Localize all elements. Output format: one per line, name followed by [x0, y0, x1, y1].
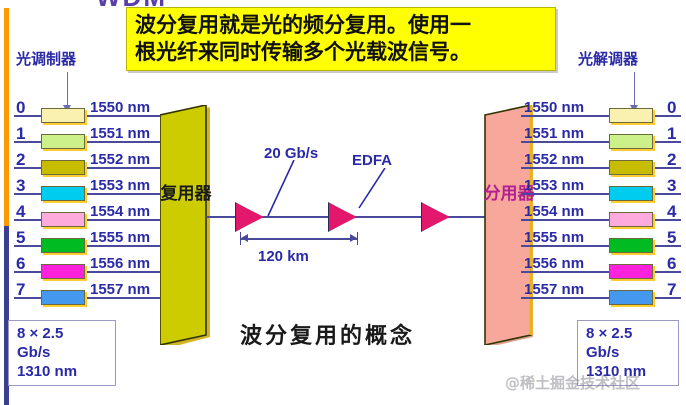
- slide-canvas: WDM 波分复用就是光的频分复用。使用一 根光纤来同时传输多个光载波信号。 光调…: [0, 0, 686, 405]
- channel-row-6: 61556 nm: [0, 254, 165, 278]
- channel-row-5: 51555 nm: [0, 228, 165, 252]
- channel-row-0: 01550 nm: [0, 98, 165, 122]
- optical-demodulator-2[interactable]: [609, 160, 653, 175]
- optical-demodulator-6[interactable]: [609, 264, 653, 279]
- channel-number: 3: [667, 176, 676, 196]
- optical-modulator-5[interactable]: [41, 238, 85, 253]
- channel-wavelength: 1551 nm: [524, 125, 584, 142]
- channel-row-0: 01550 nm: [521, 98, 686, 122]
- channel-wavelength: 1554 nm: [524, 203, 584, 220]
- channel-wavelength: 1557 nm: [524, 281, 584, 298]
- channel-wavelength: 1556 nm: [524, 255, 584, 272]
- channel-number: 7: [16, 280, 25, 300]
- channel-row-7: 71557 nm: [521, 280, 686, 304]
- optical-modulator-3[interactable]: [41, 186, 85, 201]
- channel-number: 5: [667, 228, 676, 248]
- annotation-edfa: EDFA: [352, 152, 392, 169]
- info-left-line-2: Gb/s: [17, 343, 109, 362]
- channel-wavelength: 1555 nm: [90, 229, 150, 246]
- channel-row-2: 21552 nm: [521, 150, 686, 174]
- channel-wavelength: 1550 nm: [90, 99, 150, 116]
- callout-box: 波分复用就是光的频分复用。使用一 根光纤来同时传输多个光载波信号。: [126, 7, 556, 71]
- channel-number: 2: [667, 150, 676, 170]
- channel-wavelength: 1556 nm: [90, 255, 150, 272]
- multiplexer-device: 复用器: [160, 105, 212, 345]
- callout-line-1: 波分复用就是光的频分复用。使用一: [135, 11, 547, 38]
- channel-number: 2: [16, 150, 25, 170]
- channel-number: 4: [667, 202, 676, 222]
- optical-demodulator-7[interactable]: [609, 290, 653, 305]
- channel-row-2: 21552 nm: [0, 150, 165, 174]
- channel-wavelength: 1550 nm: [524, 99, 584, 116]
- channel-number: 6: [16, 254, 25, 274]
- span-dimension-120km: [240, 232, 358, 246]
- channel-number: 7: [667, 280, 676, 300]
- callout-line-2: 根光纤来同时传输多个光载波信号。: [135, 38, 547, 65]
- channel-wavelength: 1557 nm: [90, 281, 150, 298]
- channel-row-3: 31553 nm: [0, 176, 165, 200]
- optical-modulator-4[interactable]: [41, 212, 85, 227]
- multiplexer-label: 复用器: [160, 183, 212, 205]
- optical-demodulator-0[interactable]: [609, 108, 653, 123]
- annotation-span-length: 120 km: [258, 248, 309, 265]
- channel-number: 0: [667, 98, 676, 118]
- channel-row-5: 51555 nm: [521, 228, 686, 252]
- optical-modulator-6[interactable]: [41, 264, 85, 279]
- channel-row-1: 11551 nm: [0, 124, 165, 148]
- channel-wavelength: 1555 nm: [524, 229, 584, 246]
- channel-wavelength: 1553 nm: [524, 177, 584, 194]
- channel-wavelength: 1552 nm: [524, 151, 584, 168]
- leader-line-bitrate: [264, 160, 300, 218]
- optical-modulator-2[interactable]: [41, 160, 85, 175]
- info-left-line-1: 8 × 2.5: [17, 324, 109, 343]
- channel-row-4: 41554 nm: [521, 202, 686, 226]
- optical-modulator-1[interactable]: [41, 134, 85, 149]
- leader-line-edfa: [355, 168, 389, 210]
- channel-wavelength: 1553 nm: [90, 177, 150, 194]
- edfa-amplifier-2-icon: [328, 202, 358, 232]
- figure-caption: 波分复用的概念: [240, 318, 415, 350]
- channel-number: 6: [667, 254, 676, 274]
- channel-row-6: 61556 nm: [521, 254, 686, 278]
- channel-row-1: 11551 nm: [521, 124, 686, 148]
- info-left-line-3: 1310 nm: [17, 362, 109, 381]
- info-box-left: 8 × 2.5 Gb/s 1310 nm: [8, 320, 116, 386]
- edfa-amplifier-3-icon: [421, 202, 451, 232]
- channel-wavelength: 1552 nm: [90, 151, 150, 168]
- info-right-line-1: 8 × 2.5: [586, 324, 672, 343]
- channel-row-4: 41554 nm: [0, 202, 165, 226]
- optical-modulator-0[interactable]: [41, 108, 85, 123]
- label-optical-modulator: 光调制器: [16, 48, 76, 69]
- info-right-line-2: Gb/s: [586, 343, 672, 362]
- optical-modulator-7[interactable]: [41, 290, 85, 305]
- channel-number: 1: [16, 124, 25, 144]
- channel-number: 5: [16, 228, 25, 248]
- watermark-text: @稀土掘金技术社区: [505, 372, 640, 393]
- optical-demodulator-1[interactable]: [609, 134, 653, 149]
- label-optical-demodulator: 光解调器: [578, 48, 638, 69]
- channel-number: 1: [667, 124, 676, 144]
- channel-wavelength: 1554 nm: [90, 203, 150, 220]
- optical-demodulator-3[interactable]: [609, 186, 653, 201]
- channel-number: 4: [16, 202, 25, 222]
- channel-wavelength: 1551 nm: [90, 125, 150, 142]
- optical-demodulator-4[interactable]: [609, 212, 653, 227]
- channel-row-7: 71557 nm: [0, 280, 165, 304]
- optical-demodulator-5[interactable]: [609, 238, 653, 253]
- channel-number: 3: [16, 176, 25, 196]
- channel-number: 0: [16, 98, 25, 118]
- edfa-amplifier-1-icon: [235, 202, 265, 232]
- channel-row-3: 31553 nm: [521, 176, 686, 200]
